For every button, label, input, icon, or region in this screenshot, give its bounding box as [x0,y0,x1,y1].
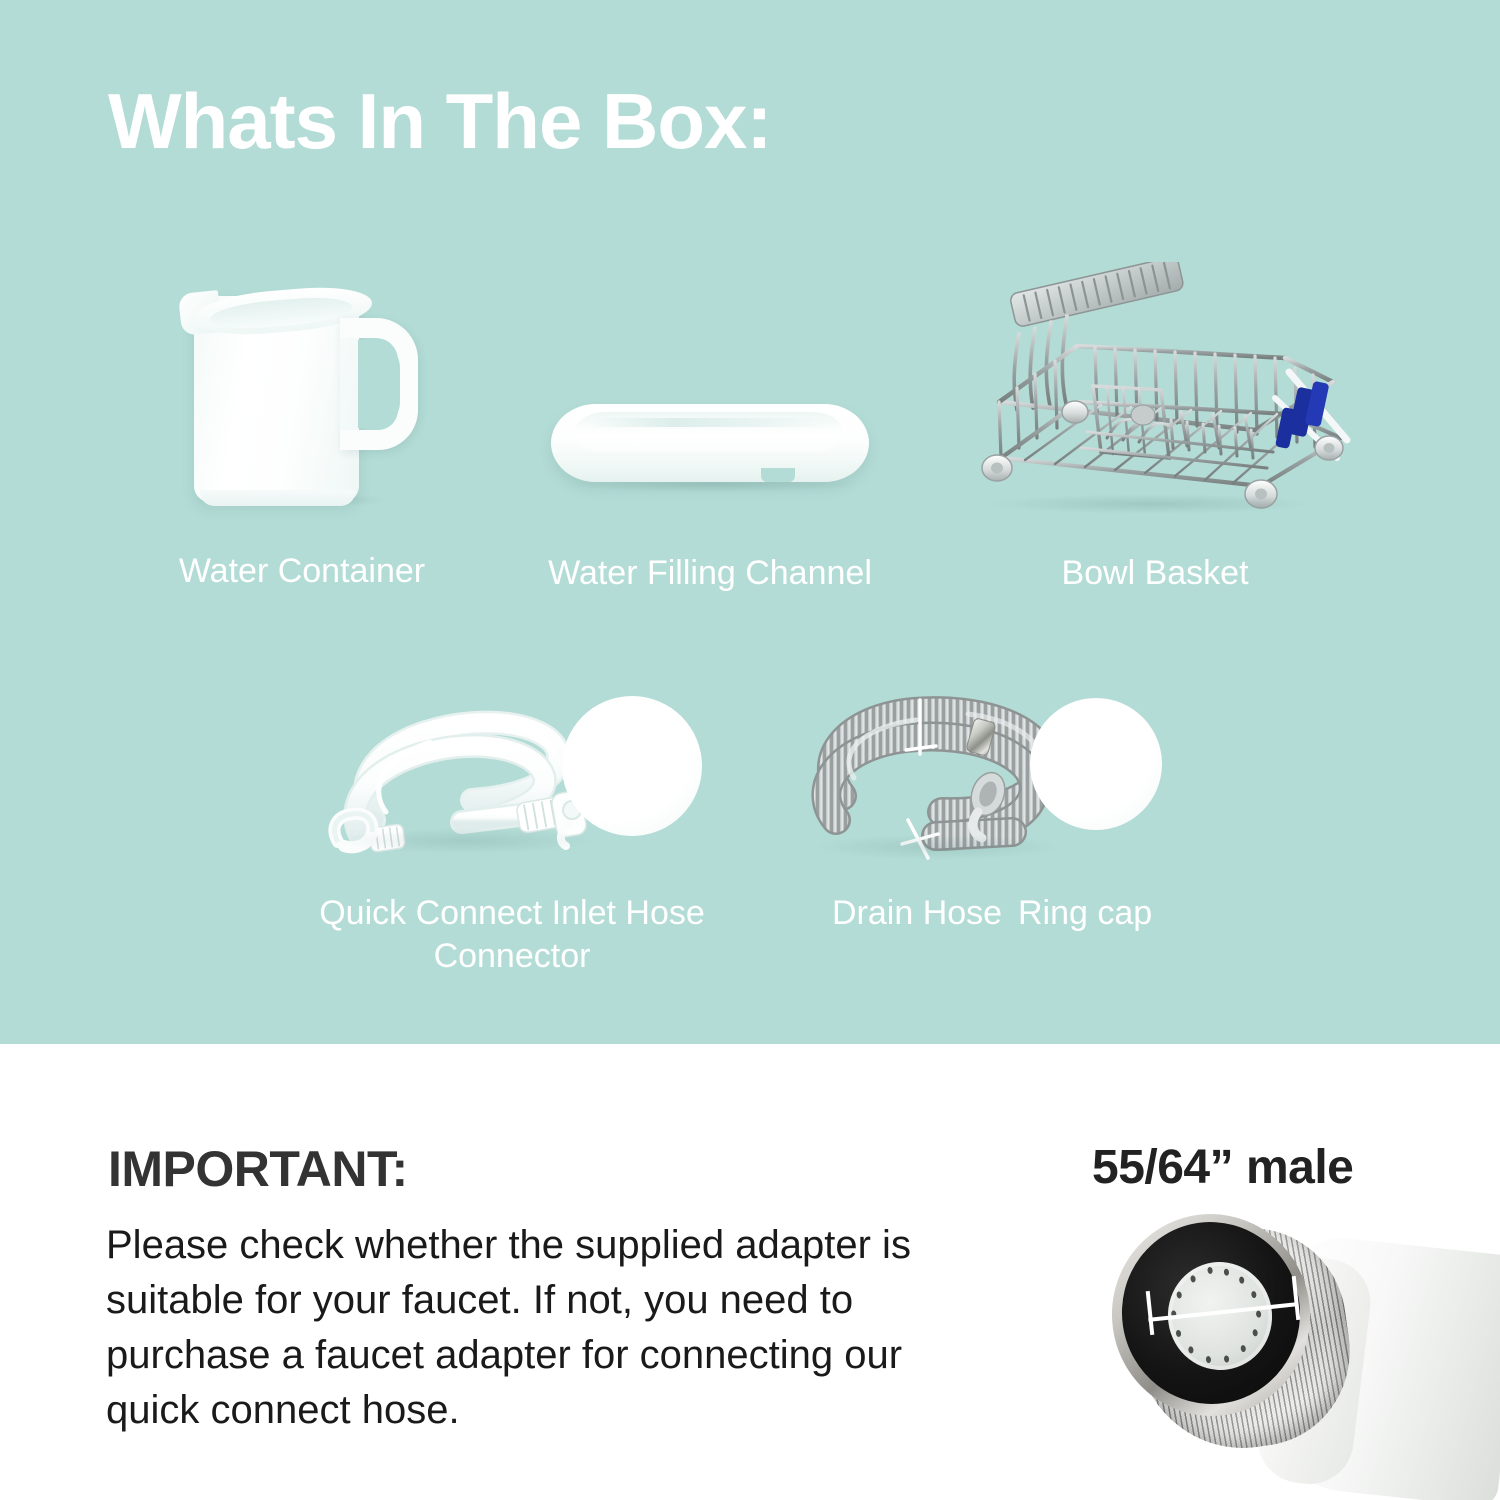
box-item-water-container: Water Container [172,278,432,608]
wire-basket-svg [955,262,1355,522]
box-item-bowl-basket: Bowl Basket [955,262,1355,612]
box-item-label: Bowl Basket [975,552,1335,595]
tray-icon [545,390,875,500]
basket-shadow [985,494,1315,514]
faucet-adapter-photo [1060,1200,1500,1500]
important-body-text: Please check whether the supplied adapte… [106,1218,946,1438]
page-title: Whats In The Box: [108,82,771,160]
inlet-hose-icon [322,692,702,867]
pitcher-icon [172,278,432,508]
adapter-size-label: 55/64” male [1092,1140,1353,1195]
important-heading: IMPORTANT: [108,1140,408,1198]
tray-notch [761,468,795,482]
box-item-label: Quick Connect Inlet Hose Connector [272,892,752,977]
wire-basket-icon [955,262,1355,522]
box-item-water-filling-channel: Water Filling Channel [545,390,875,610]
box-item-label: Water Filling Channel [525,552,895,595]
box-item-ring-cap: Ring cap [1018,892,1218,942]
whats-in-the-box-section: Whats In The Box: Water Container Water … [0,0,1500,1044]
box-item-drain-hose: Drain Hose [802,692,1162,992]
tray-lip [591,418,827,427]
connector-circle-backdrop [562,696,702,836]
box-item-quick-connect-inlet-hose: Quick Connect Inlet Hose Connector [322,692,702,992]
inlet-hose-shadow [336,828,596,854]
box-item-label: Ring cap [1018,892,1218,935]
ring-cap-circle-backdrop [1030,698,1162,830]
drain-hose-icon [802,692,1162,867]
box-item-label: Water Container [142,550,462,593]
pitcher-handle-cutout [358,340,400,428]
box-item-label: Drain Hose [832,892,1032,935]
drain-hose-shadow [812,834,1062,860]
